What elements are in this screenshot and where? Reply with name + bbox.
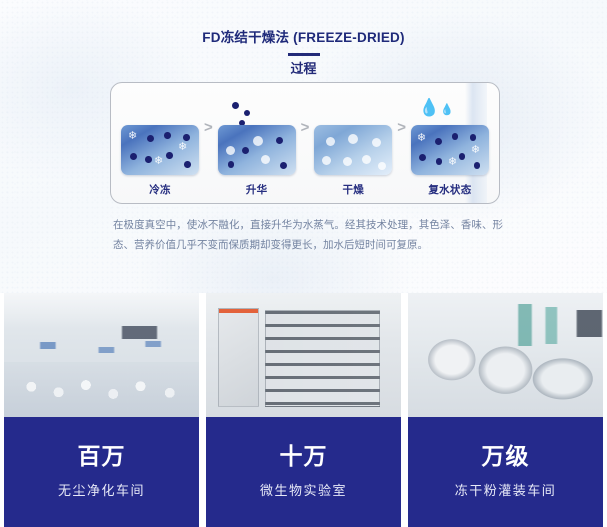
particle-dot: [184, 161, 191, 168]
chevron-right-icon: >: [204, 119, 213, 162]
process-step-freeze[interactable]: ❄ ❄ ❄ 冷冻: [121, 125, 199, 197]
particle-dot: [419, 154, 426, 161]
chevron-right-icon: >: [301, 119, 310, 162]
particle-dot: [164, 132, 171, 139]
vapor-dot: [226, 146, 235, 155]
facility-cards: 百万 无尘净化车间 十万 微生物实验室 万级 冻干粉灌装车间: [0, 293, 607, 527]
particle-dot: [474, 162, 481, 169]
section-subtitle: 过程: [0, 58, 607, 77]
process-step-sublimation[interactable]: 升华: [218, 125, 296, 197]
snowflake-icon: ❄: [417, 133, 426, 144]
snowflake-icon: ❄: [471, 145, 480, 156]
beaker-sublimation-icon: [218, 125, 296, 175]
step-label: 升华: [218, 182, 296, 197]
particle-dot: [435, 138, 442, 145]
particle-dot: [166, 152, 173, 159]
beaker-rehydrated-icon: ❄ ❄ ❄: [411, 125, 489, 175]
vapor-dot: [253, 136, 263, 146]
cavity-dot: [378, 162, 386, 170]
water-drop-small-icon: 💧: [440, 104, 454, 116]
beaker-sublimation-wrap: [218, 125, 296, 175]
process-description: 在极度真空中，使冰不融化，直接升华为水蒸气。经其技术处理，其色泽、香味、形态、营…: [113, 215, 503, 255]
card-caption: 无尘净化车间: [58, 480, 145, 499]
particle-dot: [242, 147, 249, 154]
facility-card[interactable]: 十万 微生物实验室: [206, 293, 401, 527]
card-band: 十万 微生物实验室: [206, 417, 401, 527]
filling-tanks-photo: [408, 293, 603, 417]
cavity-dot: [362, 155, 371, 164]
particle-dot: [280, 162, 287, 169]
water-drop-icon: 💧💧: [419, 99, 454, 119]
escaping-particle: [232, 102, 239, 109]
beaker-dried-icon: [314, 125, 392, 175]
facility-card[interactable]: 百万 无尘净化车间: [4, 293, 199, 527]
snowflake-icon: ❄: [128, 131, 137, 142]
card-number: 百万: [78, 437, 126, 471]
card-number: 万级: [482, 437, 530, 471]
chevron-right-icon: >: [397, 119, 406, 162]
cavity-dot: [326, 137, 335, 146]
particle-dot: [276, 137, 283, 144]
process-steps: ❄ ❄ ❄ 冷冻 >: [111, 83, 499, 203]
snowflake-icon: ❄: [178, 142, 187, 153]
process-step-rehydrated[interactable]: 💧💧 ❄ ❄ ❄ 复水状态: [411, 125, 489, 197]
process-diagram-panel: ❄ ❄ ❄ 冷冻 >: [110, 82, 500, 204]
card-band: 百万 无尘净化车间: [4, 417, 199, 527]
particle-dot: [452, 133, 459, 140]
cleanroom-workers-photo: [4, 293, 199, 417]
title-divider: [288, 53, 320, 56]
cavity-dot: [372, 138, 381, 147]
card-caption: 微生物实验室: [260, 480, 347, 499]
cavity-dot: [343, 157, 352, 166]
step-label: 干燥: [314, 182, 392, 197]
particle-dot: [147, 135, 154, 142]
process-step-drying[interactable]: 干燥: [314, 125, 392, 197]
cavity-dot: [348, 134, 358, 144]
beaker-frozen-icon: ❄ ❄ ❄: [121, 125, 199, 175]
particle-dot: [470, 134, 477, 141]
vapor-dot: [261, 155, 270, 164]
cavity-dot: [322, 156, 331, 165]
card-number: 十万: [280, 437, 328, 471]
snowflake-icon: ❄: [154, 156, 163, 167]
particle-dot: [145, 156, 152, 163]
escaping-particle: [244, 110, 250, 116]
particle-dot: [459, 153, 466, 160]
step-label: 复水状态: [411, 182, 489, 197]
page-title: FD冻结干燥法 (FREEZE-DRIED): [0, 26, 607, 46]
card-band: 万级 冻干粉灌装车间: [408, 417, 603, 527]
beaker-rehydrated-wrap: 💧💧 ❄ ❄ ❄: [411, 125, 489, 175]
step-label: 冷冻: [121, 182, 199, 197]
facility-card[interactable]: 万级 冻干粉灌装车间: [408, 293, 603, 527]
card-caption: 冻干粉灌装车间: [455, 480, 557, 499]
snowflake-icon: ❄: [448, 157, 457, 168]
laboratory-equipment-photo: [206, 293, 401, 417]
particle-dot: [183, 134, 190, 141]
particle-dot: [436, 158, 443, 165]
particle-dot: [130, 153, 137, 160]
particle-dot: [228, 161, 235, 168]
